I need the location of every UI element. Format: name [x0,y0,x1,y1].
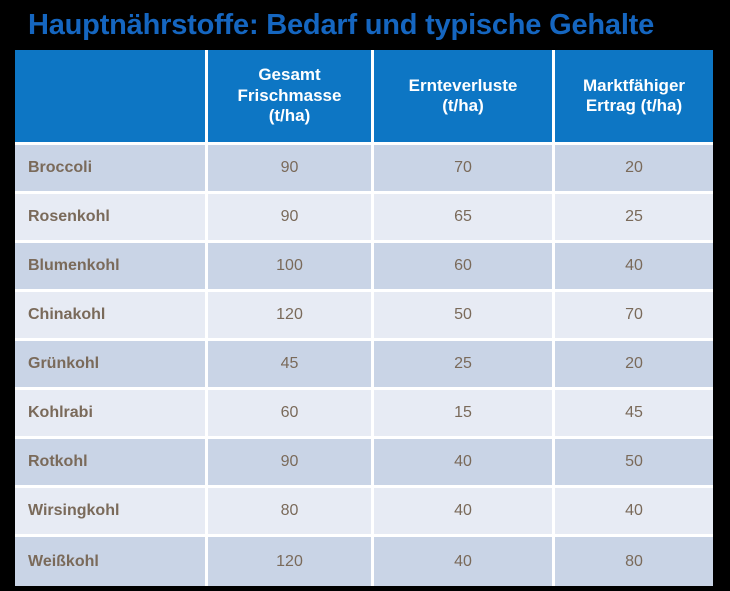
cell-gesamt-frischmasse: 120 [208,292,374,341]
cell-marktfaehiger-ertrag: 40 [555,488,713,537]
cell-ernteverluste: 25 [374,341,555,390]
cell-name: Kohlrabi [15,390,208,439]
cell-ernteverluste: 40 [374,439,555,488]
cell-marktfaehiger-ertrag: 45 [555,390,713,439]
table-row: Weißkohl1204080 [15,537,713,586]
page-title: Hauptnährstoffe: Bedarf und typische Geh… [28,11,654,40]
table-row: Grünkohl452520 [15,341,713,390]
table-body: Broccoli907020Rosenkohl906525Blumenkohl1… [15,145,713,586]
table-row: Blumenkohl1006040 [15,243,713,292]
table-row: Rosenkohl906525 [15,194,713,243]
header-line: Gesamt [258,65,320,84]
cell-marktfaehiger-ertrag: 70 [555,292,713,341]
cell-ernteverluste: 60 [374,243,555,292]
cell-gesamt-frischmasse: 80 [208,488,374,537]
header-cell-ernteverluste: Ernteverluste (t/ha) [374,50,555,145]
cell-gesamt-frischmasse: 120 [208,537,374,586]
cell-name: Rosenkohl [15,194,208,243]
cell-gesamt-frischmasse: 100 [208,243,374,292]
cell-ernteverluste: 65 [374,194,555,243]
cell-marktfaehiger-ertrag: 25 [555,194,713,243]
cell-marktfaehiger-ertrag: 80 [555,537,713,586]
cell-gesamt-frischmasse: 90 [208,145,374,194]
cell-ernteverluste: 40 [374,488,555,537]
cell-ernteverluste: 70 [374,145,555,194]
table-row: Wirsingkohl804040 [15,488,713,537]
cell-marktfaehiger-ertrag: 50 [555,439,713,488]
cell-marktfaehiger-ertrag: 20 [555,341,713,390]
nutrient-table: Gesamt Frischmasse (t/ha) Ernteverluste … [15,50,713,586]
cell-gesamt-frischmasse: 45 [208,341,374,390]
cell-ernteverluste: 40 [374,537,555,586]
cell-marktfaehiger-ertrag: 40 [555,243,713,292]
cell-name: Weißkohl [15,537,208,586]
table-row: Chinakohl1205070 [15,292,713,341]
header-cell-name [15,50,208,145]
title-bar: Hauptnährstoffe: Bedarf und typische Geh… [0,0,730,50]
header-cell-marktfaehiger-ertrag: Marktfähiger Ertrag (t/ha) [555,50,713,145]
header-line: Frischmasse [238,86,342,105]
cell-name: Broccoli [15,145,208,194]
header-line: Marktfähiger [583,76,685,95]
header-line: (t/ha) [269,106,311,125]
cell-name: Wirsingkohl [15,488,208,537]
cell-name: Grünkohl [15,341,208,390]
cell-gesamt-frischmasse: 90 [208,194,374,243]
cell-gesamt-frischmasse: 60 [208,390,374,439]
header-line: Ertrag (t/ha) [586,96,682,115]
cell-ernteverluste: 15 [374,390,555,439]
table-row: Broccoli907020 [15,145,713,194]
slide-canvas: Hauptnährstoffe: Bedarf und typische Geh… [0,0,730,591]
header-line: (t/ha) [442,96,484,115]
table-header: Gesamt Frischmasse (t/ha) Ernteverluste … [15,50,713,145]
header-row: Gesamt Frischmasse (t/ha) Ernteverluste … [15,50,713,145]
table-row: Rotkohl904050 [15,439,713,488]
table-row: Kohlrabi601545 [15,390,713,439]
cell-ernteverluste: 50 [374,292,555,341]
cell-name: Rotkohl [15,439,208,488]
cell-name: Blumenkohl [15,243,208,292]
cell-marktfaehiger-ertrag: 20 [555,145,713,194]
cell-name: Chinakohl [15,292,208,341]
header-line: Ernteverluste [409,76,518,95]
cell-gesamt-frischmasse: 90 [208,439,374,488]
header-cell-gesamt-frischmasse: Gesamt Frischmasse (t/ha) [208,50,374,145]
